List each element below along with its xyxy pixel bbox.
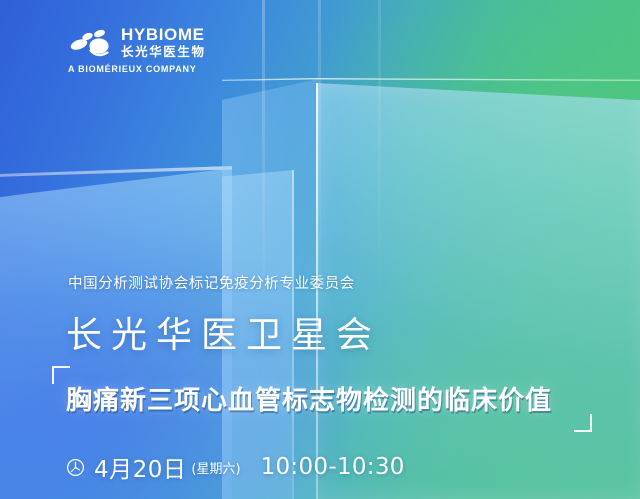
organizer-line: 中国分析测试协会标记免疫分析专业委员会 [68,272,355,293]
corner-bracket-bottom-right-icon [574,414,592,432]
hybiome-cell-cluster-logo-icon [68,27,114,57]
event-date: 4月20日 [94,450,186,484]
event-title: 长光华医卫星会 [66,306,381,358]
logo-primary-row: HYBIOME 长光华医生物 [68,26,228,59]
glass-prism-large-front-face [316,83,640,499]
logo-tagline: A BIOMÉRIEUX COMPANY [68,64,228,74]
topic-block: 胸痛新三项心血管标志物检测的临床价值 [52,366,592,432]
glass-prism-large-top-edge [222,78,640,81]
logo-wordmark: HYBIOME 长光华医生物 [121,26,206,59]
clock-icon [66,458,85,477]
topic-text: 胸痛新三项心血管标志物检测的临床价值 [66,380,552,417]
schedule-line: 4月20日 (星期六) 10:00-10:30 [66,450,405,484]
background-green-glow-top [307,0,640,299]
brand-logo: HYBIOME 长光华医生物 A BIOMÉRIEUX COMPANY [68,26,228,74]
logo-brand-en: HYBIOME [121,26,206,43]
event-time-range: 10:00-10:30 [261,454,405,480]
webinar-poster: HYBIOME 长光华医生物 A BIOMÉRIEUX COMPANY 中国分析… [0,0,640,499]
glass-prism-left-low-top-edge [0,166,232,190]
logo-brand-cn: 长光华医生物 [121,46,206,59]
event-weekday: (星期六) [191,458,240,477]
